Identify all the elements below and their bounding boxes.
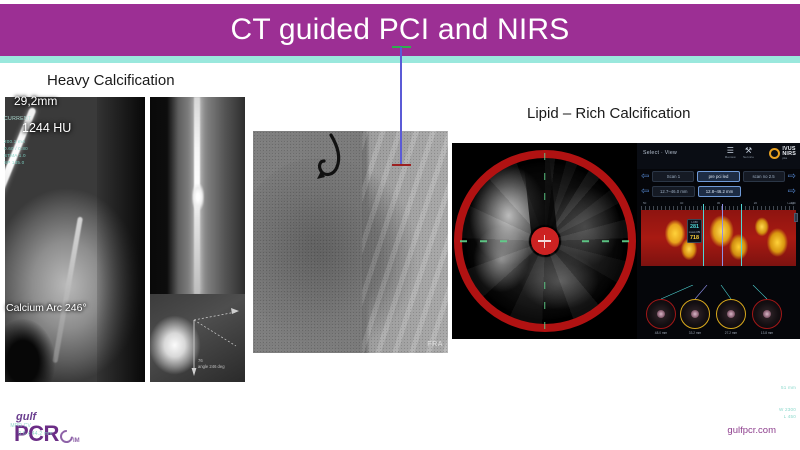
ivus-nirs-logo: IVUS NIRS plus — [769, 147, 796, 160]
length-measurement-line — [400, 47, 402, 165]
chemogram-length-tag: Length — [787, 201, 796, 205]
heading-lipid-rich-calcification: Lipid – Rich Calcification — [527, 105, 690, 122]
chemogram-cursor[interactable] — [722, 204, 723, 266]
thumbnail-4-catheter — [763, 310, 771, 318]
review-icon[interactable]: ☰ Review — [725, 147, 736, 159]
angiogram-tag: FRA — [427, 341, 443, 348]
calcium-arc-label: Calcium Arc 246° — [6, 302, 87, 314]
calcium-arc-note: 76 angle 246 deg — [198, 358, 794, 434]
scan-number-field[interactable]: Scan 1 — [652, 171, 694, 182]
range-reference-field[interactable]: 12.7–46.0 mm — [652, 186, 695, 197]
chemogram-side-control[interactable] — [794, 213, 798, 222]
ct-mpr-mode-label: MPR CV — [10, 423, 31, 429]
logo-ring-icon — [769, 148, 780, 159]
thumbnail-1-label: 48.0 mm — [644, 331, 678, 335]
chemogram-panel: 50 40 30 20 10 Length LCBI 281 maxLCBI 7… — [641, 201, 796, 279]
ct-mpr-osd-bottom: MPR CV 0.6 x 44.2 mm — [4, 415, 53, 446]
thumbnail-4[interactable] — [752, 299, 782, 329]
thumbnail-3[interactable] — [716, 299, 746, 329]
ivus-cross-section-image — [452, 143, 637, 339]
prev-range-arrow-icon[interactable]: ⇦ — [641, 187, 649, 197]
next-scan-arrow-icon[interactable]: ⇨ — [788, 172, 796, 182]
hu-measurement-label: 1244 HU — [22, 121, 71, 135]
review-glyph: ☰ — [727, 146, 734, 155]
logo-im-text: IM — [73, 438, 80, 444]
next-range-arrow-icon[interactable]: ⇨ — [788, 187, 796, 197]
ct-mpr-thickness-label: 0.6 x 44.2 mm — [18, 431, 52, 437]
review-label: Review — [725, 156, 736, 159]
thumbnail-2[interactable] — [680, 299, 710, 329]
length-measurement-label: 29,2mm — [14, 94, 57, 108]
thumbnail-3-catheter — [727, 310, 735, 318]
thumbnail-1[interactable] — [646, 299, 676, 329]
scan-rate-field[interactable]: scan no 2.5 — [743, 171, 785, 182]
service-icon[interactable]: ⚒ Service — [743, 147, 754, 159]
thumbnail-1-catheter — [657, 310, 665, 318]
coronary-angiogram-image: FRA — [253, 131, 448, 353]
nirs-console-screenshot: Select · View ☰ Review ⚒ Service IVUS NI… — [637, 143, 800, 339]
logo-line-3: plus — [782, 158, 796, 161]
lung-field-shadow — [97, 97, 145, 382]
slide: CT guided PCI and NIRS Heavy Calcificati… — [0, 0, 800, 450]
thumbnail-2-label: 33.2 mm — [678, 331, 712, 335]
console-menu[interactable]: Select · View — [643, 150, 677, 156]
service-glyph: ⚒ — [745, 146, 752, 155]
ct-mpr-osd-params: 200.1 mA 0.60 / 0.80 STMA 1.0 SP 135.0 — [4, 138, 31, 166]
thumbnail-2-catheter — [691, 310, 699, 318]
console-range-row: ⇦ 12.7–46.0 mm 12.8–46.2 mm ⇨ — [637, 184, 800, 199]
ct-mpr-osd-top-left: CURRENT 200.1 mA 0.60 / 0.80 STMA 1.0 SP… — [4, 101, 31, 180]
scan-name-field[interactable]: pre pci led — [697, 171, 739, 182]
prev-scan-arrow-icon[interactable]: ⇦ — [641, 172, 649, 182]
page-title: CT guided PCI and NIRS — [230, 13, 569, 47]
ivus-catheter-marker — [531, 227, 559, 255]
ct-longitudinal-image — [150, 97, 245, 294]
measurement-end-marker — [392, 164, 411, 166]
console-toolbar: Select · View ☰ Review ⚒ Service IVUS NI… — [637, 143, 800, 169]
thumbnail-4-label: 13.8 mm — [750, 331, 784, 335]
cross-section-thumbnails: 48.0 mm 33.2 mm 27.2 mm 13.8 mm — [637, 285, 800, 339]
guide-catheter — [253, 131, 448, 353]
heading-heavy-calcification: Heavy Calcification — [47, 72, 175, 89]
range-active-field[interactable]: 12.8–46.2 mm — [698, 186, 741, 197]
lcbi-readout: LCBI 281 maxLCBI 718 — [687, 219, 702, 243]
service-label: Service — [743, 156, 754, 159]
thumbnail-3-label: 27.2 mm — [714, 331, 748, 335]
maxlcbi-value: 718 — [688, 235, 701, 242]
calcium-deposit — [192, 184, 204, 210]
console-scan-row: ⇦ Scan 1 pre pci led scan no 2.5 ⇨ — [637, 169, 800, 184]
